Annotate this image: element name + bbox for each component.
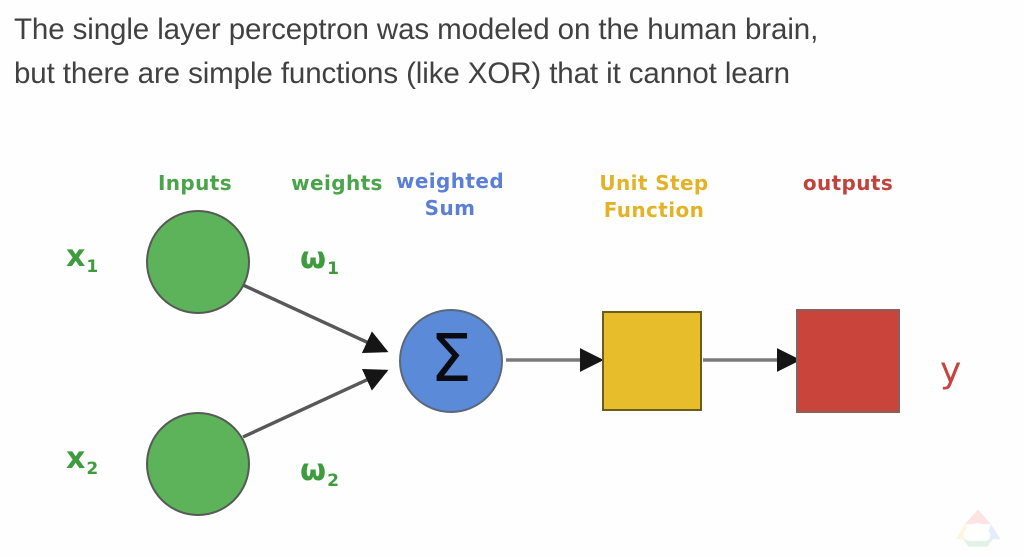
weight-label-w2-base: ω xyxy=(300,453,326,488)
weight-label-w1: ω1 xyxy=(300,241,339,279)
column-label-outputs: outputs xyxy=(782,170,914,197)
column-label-inputs: Inputs xyxy=(125,170,265,197)
single-layer-perceptron-diagram: Inputs weights weighted Sum Unit Step Fu… xyxy=(0,0,1024,557)
output-label-y: y xyxy=(940,350,961,391)
output-node xyxy=(796,309,900,413)
google-cloud-logo xyxy=(950,505,1006,551)
weight-label-w1-subscript: 1 xyxy=(327,259,339,279)
activation-function-box xyxy=(602,311,702,411)
input-label-x2: x2 xyxy=(66,441,98,479)
summation-node: Σ xyxy=(399,309,503,413)
edge-x2-to-sum xyxy=(243,371,386,437)
weight-label-w2: ω2 xyxy=(300,453,339,491)
input-node-x2 xyxy=(146,412,250,516)
column-label-weighted-sum: weighted Sum xyxy=(385,168,515,222)
input-label-x1-base: x xyxy=(66,239,85,274)
input-label-x1: x1 xyxy=(66,239,98,277)
input-label-x1-subscript: 1 xyxy=(86,257,98,277)
input-label-x2-base: x xyxy=(66,441,85,476)
input-label-x2-subscript: 2 xyxy=(86,459,98,479)
weight-label-w2-subscript: 2 xyxy=(327,471,339,491)
weight-label-w1-base: ω xyxy=(300,241,326,276)
input-node-x1 xyxy=(146,210,250,314)
column-label-unit-step-function: Unit Step Function xyxy=(583,170,725,224)
edge-x1-to-sum xyxy=(243,285,386,351)
